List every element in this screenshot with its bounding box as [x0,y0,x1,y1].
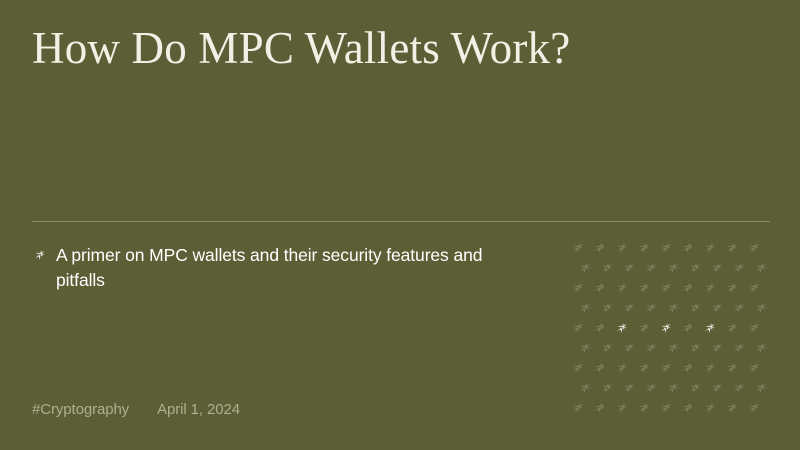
pinwheel-icon [724,360,740,376]
subtitle-block: A primer on MPC wallets and their securi… [32,243,532,293]
pinwheel-icon [702,240,718,256]
pinwheel-icon [658,360,674,376]
footer-tag[interactable]: #Cryptography [32,400,129,420]
pinwheel-icon [621,260,637,276]
pinwheel-icon [687,300,703,316]
pattern-row [570,360,762,376]
subtitle-text: A primer on MPC wallets and their securi… [56,243,488,293]
pattern-row [570,240,762,256]
pinwheel-icon [746,280,762,296]
pinwheel-icon [621,380,637,396]
pattern-row [570,280,762,296]
pinwheel-icon [592,360,608,376]
pinwheel-icon [724,320,740,336]
pinwheel-icon [680,360,696,376]
pinwheel-icon [643,260,659,276]
pinwheel-icon [614,360,630,376]
horizontal-divider [32,221,770,222]
pinwheel-icon [32,247,48,263]
pinwheel-icon [636,320,652,336]
pinwheel-icon [636,280,652,296]
pinwheel-icon [570,320,586,336]
pinwheel-icon [680,280,696,296]
pinwheel-icon-highlighted [658,320,674,336]
pinwheel-icon [658,280,674,296]
pinwheel-icon [680,240,696,256]
pinwheel-icon [753,380,769,396]
pinwheel-icon [687,260,703,276]
pinwheel-icon [592,280,608,296]
pinwheel-icon [570,280,586,296]
pinwheel-icon [636,400,652,416]
pinwheel-icon [687,380,703,396]
pinwheel-icon [599,340,615,356]
pinwheel-icon [621,340,637,356]
pinwheel-icon [570,240,586,256]
pinwheel-icon [724,400,740,416]
pinwheel-icon [577,380,593,396]
pinwheel-icon [665,380,681,396]
pinwheel-icon [577,260,593,276]
pinwheel-icon [592,400,608,416]
pinwheel-icon [753,300,769,316]
pinwheel-icon [731,340,747,356]
pattern-row [570,320,762,336]
pinwheel-icon [599,300,615,316]
page-title: How Do MPC Wallets Work? [32,22,732,74]
pattern-row [577,300,769,316]
pinwheel-icon [643,380,659,396]
slide-canvas: How Do MPC Wallets Work? A primer on MPC… [0,0,800,450]
pinwheel-icon [753,340,769,356]
pinwheel-icon [746,360,762,376]
pinwheel-icon [577,340,593,356]
pinwheel-icon [680,400,696,416]
pinwheel-icon [643,300,659,316]
pinwheel-icon [709,380,725,396]
pinwheel-icon [702,400,718,416]
pinwheel-icon [665,260,681,276]
pinwheel-icon [577,300,593,316]
pinwheel-icon [702,360,718,376]
pinwheel-icon [731,380,747,396]
pinwheel-icon [614,400,630,416]
pinwheel-icon [702,280,718,296]
pattern-row [570,400,762,416]
pinwheel-icon [687,340,703,356]
pattern-row [577,380,769,396]
pinwheel-icon [746,400,762,416]
pinwheel-icon [636,240,652,256]
decorative-pinwheel-pattern [570,240,800,420]
pinwheel-icon [724,240,740,256]
pinwheel-icon [665,300,681,316]
footer-date: April 1, 2024 [157,400,240,420]
pattern-row [577,340,769,356]
pinwheel-icon [599,260,615,276]
pinwheel-icon [724,280,740,296]
pinwheel-icon [636,360,652,376]
pinwheel-icon [614,240,630,256]
pinwheel-icon [658,240,674,256]
pinwheel-icon [731,260,747,276]
pinwheel-icon [599,380,615,396]
pinwheel-icon-highlighted [614,320,630,336]
pinwheel-icon [746,320,762,336]
footer: #Cryptography April 1, 2024 [32,400,240,420]
pinwheel-icon-highlighted [702,320,718,336]
pinwheel-icon [658,400,674,416]
pinwheel-icon [709,260,725,276]
pinwheel-icon [731,300,747,316]
pinwheel-icon [643,340,659,356]
pinwheel-icon [680,320,696,336]
pinwheel-icon [709,300,725,316]
pinwheel-icon [753,260,769,276]
pinwheel-icon [570,360,586,376]
pinwheel-icon [614,280,630,296]
pinwheel-icon [621,300,637,316]
pinwheel-icon [592,320,608,336]
pinwheel-icon [570,400,586,416]
pinwheel-icon [665,340,681,356]
pinwheel-icon [746,240,762,256]
pattern-row [577,260,769,276]
pinwheel-icon [709,340,725,356]
pinwheel-icon [592,240,608,256]
